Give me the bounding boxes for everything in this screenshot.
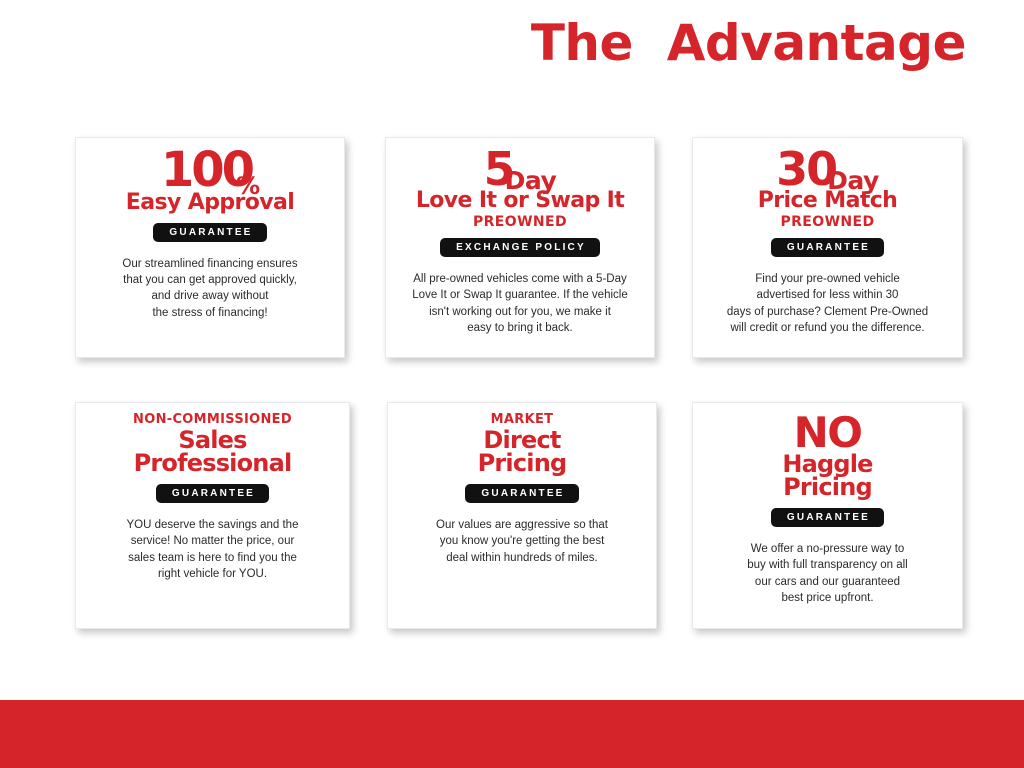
guarantee-badge: GUARANTEE xyxy=(153,223,266,242)
headline-line: 5Day xyxy=(398,148,642,190)
page-title: The Advantage xyxy=(531,16,966,71)
guarantee-badge: GUARANTEE xyxy=(771,508,884,527)
headline-line: 100% xyxy=(88,148,332,192)
card-headline: NON-COMMISSIONED Sales Professional xyxy=(88,413,337,476)
card-description: Our streamlined financing ensures that y… xyxy=(88,256,332,321)
headline-percent-suffix: % xyxy=(236,172,259,200)
advantage-cards-grid: 100% Easy Approval GUARANTEE Our streaml… xyxy=(75,137,963,632)
card-headline: MARKET Direct Pricing xyxy=(400,413,644,476)
headline-stack-line-2: Professional xyxy=(88,452,337,476)
headline-huge-word: NO xyxy=(705,413,950,453)
card-headline: 30Day Price Match PREOWNED xyxy=(705,148,950,230)
headline-subtitle: Easy Approval xyxy=(88,192,332,214)
headline-day-suffix: Day xyxy=(827,166,879,195)
headline-stack-line-2: Pricing xyxy=(400,452,644,476)
bottom-accent-bar xyxy=(0,700,1024,768)
advantage-card-market-direct-pricing[interactable]: MARKET Direct Pricing GUARANTEE Our valu… xyxy=(387,402,657,629)
slide-canvas: The Advantage 100% Easy Approval GUARANT… xyxy=(0,0,1024,768)
headline-kicker: PREOWNED xyxy=(705,214,950,230)
headline-stack-line-2: Pricing xyxy=(705,476,950,500)
advantage-card-price-match[interactable]: 30Day Price Match PREOWNED GUARANTEE Fin… xyxy=(692,137,963,358)
card-headline: 100% Easy Approval xyxy=(88,148,332,215)
card-headline: NO Haggle Pricing xyxy=(705,413,950,500)
advantage-card-non-commissioned-sales[interactable]: NON-COMMISSIONED Sales Professional GUAR… xyxy=(75,402,350,629)
card-description: We offer a no-pressure way to buy with f… xyxy=(705,541,950,606)
title-block: The Advantage xyxy=(0,16,1024,71)
card-headline: 5Day Love It or Swap It PREOWNED xyxy=(398,148,642,230)
guarantee-badge: GUARANTEE xyxy=(771,238,884,257)
headline-kicker: PREOWNED xyxy=(398,214,642,230)
card-description: All pre-owned vehicles come with a 5-Day… xyxy=(398,271,642,336)
card-description: Our values are aggressive so that you kn… xyxy=(400,517,644,566)
headline-day-suffix: Day xyxy=(505,166,557,195)
headline-line: 30Day xyxy=(705,148,950,190)
exchange-policy-badge: EXCHANGE POLICY xyxy=(440,238,600,257)
advantage-card-no-haggle-pricing[interactable]: NO Haggle Pricing GUARANTEE We offer a n… xyxy=(692,402,963,629)
card-description: YOU deserve the savings and the service!… xyxy=(88,517,337,582)
advantage-card-easy-approval[interactable]: 100% Easy Approval GUARANTEE Our streaml… xyxy=(75,137,345,358)
guarantee-badge: GUARANTEE xyxy=(465,484,578,503)
guarantee-badge: GUARANTEE xyxy=(156,484,269,503)
advantage-card-love-it-or-swap-it[interactable]: 5Day Love It or Swap It PREOWNED EXCHANG… xyxy=(385,137,655,358)
card-description: Find your pre-owned vehicle advertised f… xyxy=(705,271,950,336)
